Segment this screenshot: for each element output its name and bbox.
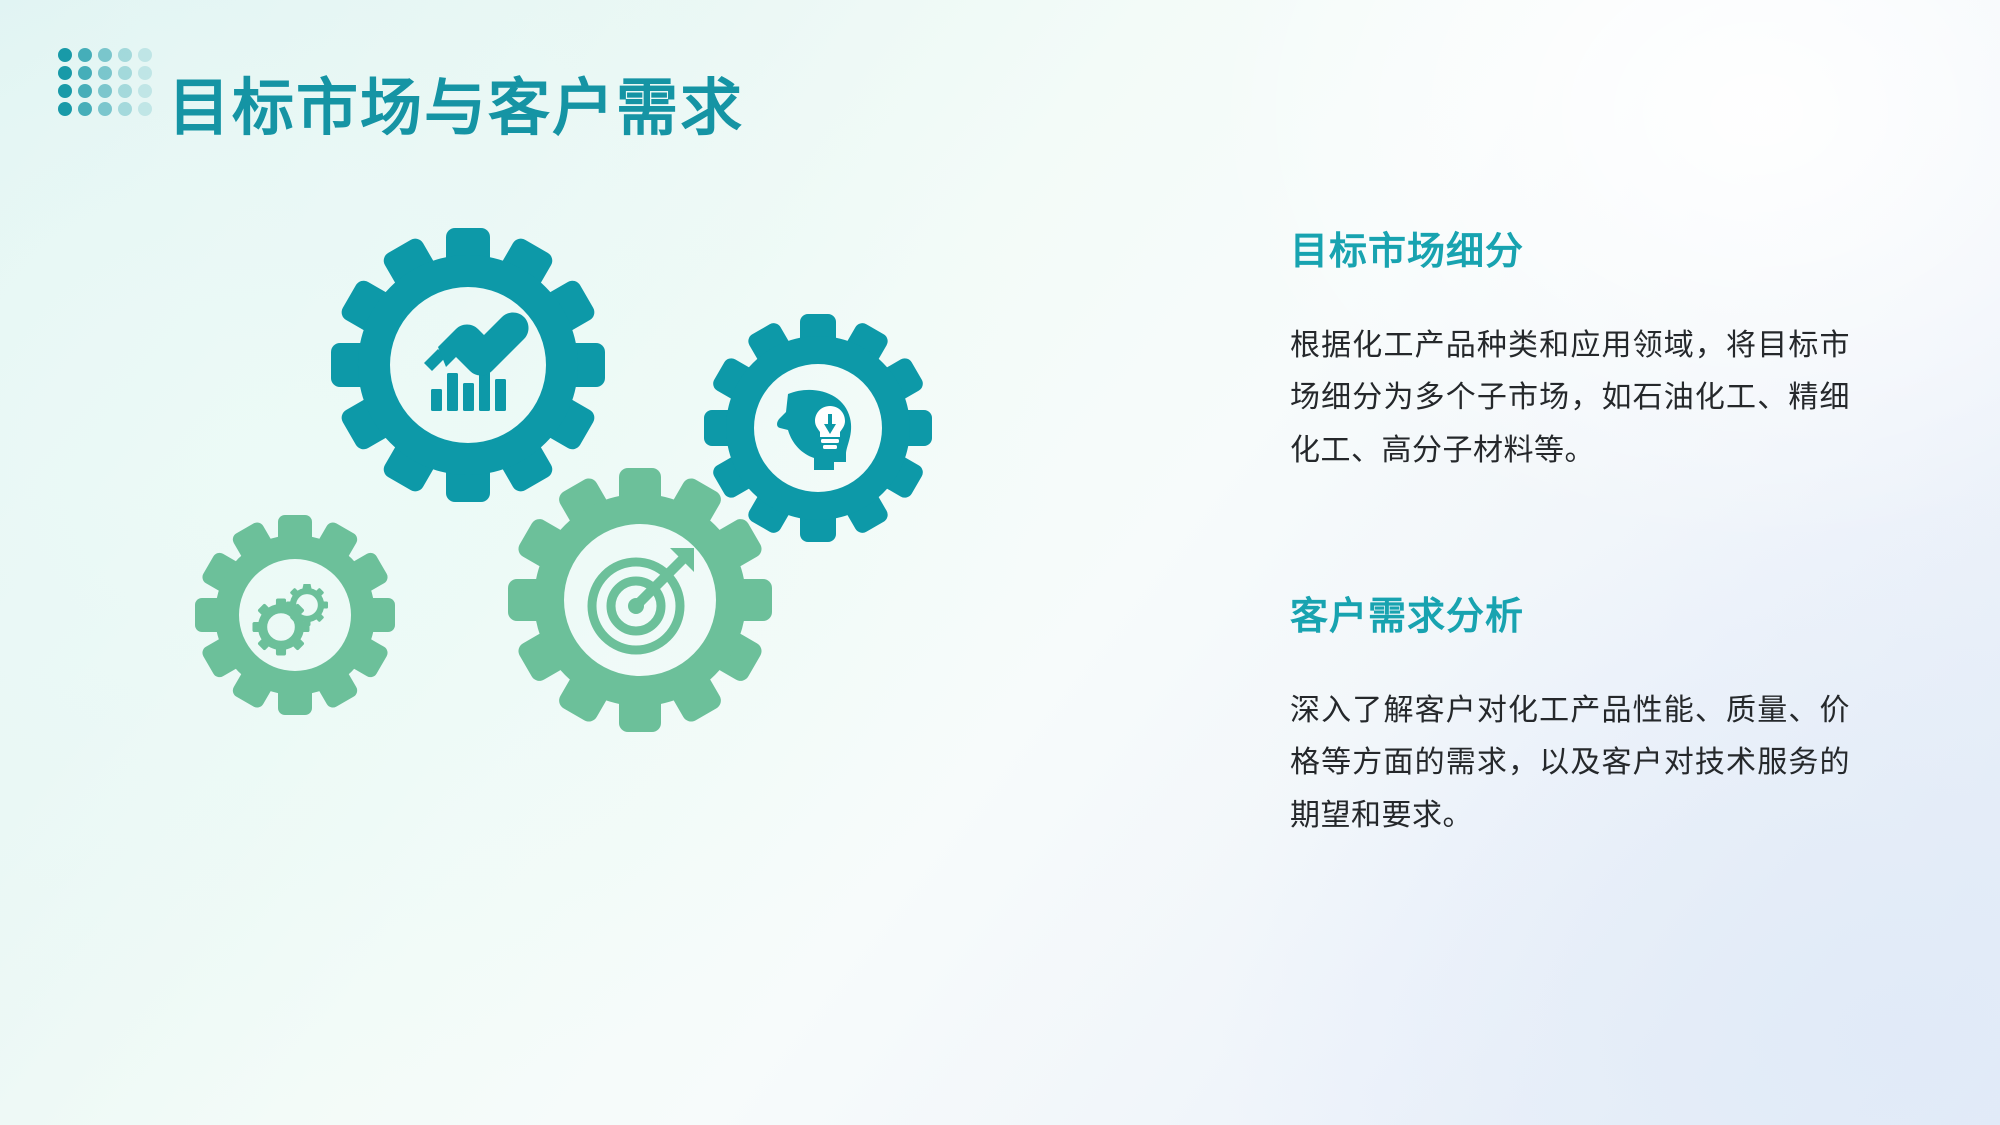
content-block-1: 目标市场细分 根据化工产品种类和应用领域，将目标市场细分为多个子市场，如石油化工… bbox=[1290, 230, 1850, 477]
target-with-arrow-icon bbox=[592, 548, 694, 650]
dot-grid-decoration bbox=[58, 48, 158, 120]
block-heading-2: 客户需求分析 bbox=[1290, 595, 1850, 641]
page-title: 目标市场与客户需求 bbox=[168, 78, 744, 140]
hand-drawing-bar-chart-icon bbox=[424, 313, 529, 412]
cogs-icon bbox=[252, 584, 328, 656]
content-block-2: 客户需求分析 深入了解客户对化工产品性能、质量、价格等方面的需求，以及客户对技术… bbox=[1290, 595, 1850, 842]
text-column: 目标市场细分 根据化工产品种类和应用领域，将目标市场细分为多个子市场，如石油化工… bbox=[1290, 230, 1850, 842]
head-with-lightbulb-icon bbox=[777, 390, 851, 470]
block-body-1: 根据化工产品种类和应用领域，将目标市场细分为多个子市场，如石油化工、精细化工、高… bbox=[1290, 320, 1850, 478]
block-heading-1: 目标市场细分 bbox=[1290, 230, 1850, 276]
gear-target bbox=[508, 468, 772, 732]
gear-cogs bbox=[195, 515, 395, 715]
block-body-2: 深入了解客户对化工产品性能、质量、价格等方面的需求，以及客户对技术服务的期望和要… bbox=[1290, 685, 1850, 843]
gear-chart bbox=[331, 228, 605, 502]
interlocking-gears-illustration bbox=[150, 215, 990, 775]
slide-canvas: 目标市场与客户需求 bbox=[0, 0, 2000, 1125]
gear-idea bbox=[704, 314, 932, 542]
